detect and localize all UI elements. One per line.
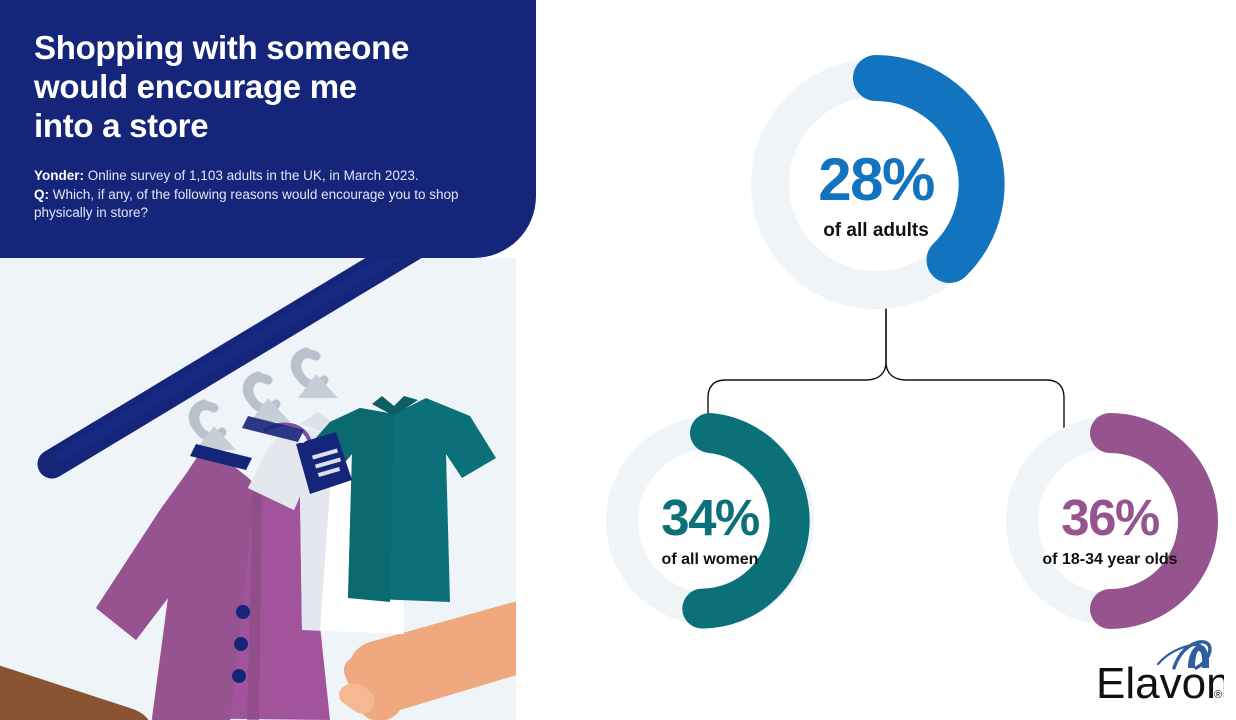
left-column: Shopping with someone would encourage me…	[0, 0, 536, 720]
source-label: Yonder:	[34, 168, 84, 183]
illustration-panel	[0, 258, 516, 720]
elavon-logo-svg: Elavon ®	[1096, 638, 1224, 704]
header-panel: Shopping with someone would encourage me…	[0, 0, 536, 258]
elavon-logo: Elavon ®	[1096, 638, 1224, 704]
question-text: Which, if any, of the following reasons …	[34, 187, 459, 221]
question-label: Q:	[34, 187, 49, 202]
right-column: 28% of all adults 34% of all women 36% o…	[536, 0, 1236, 720]
elavon-wordmark: Elavon	[1096, 659, 1224, 704]
donut-arc-all-women	[702, 433, 789, 609]
connector-lines	[536, 300, 1236, 430]
clothing-rail-illustration	[0, 258, 516, 720]
donut-arc-all-adults	[876, 78, 982, 260]
page-title: Shopping with someone would encourage me…	[34, 28, 498, 145]
donut-chart-all-women: 34% of all women	[605, 416, 815, 626]
donut-chart-all-adults: 28% of all adults	[750, 58, 1002, 310]
source-text: Online survey of 1,103 adults in the UK,…	[84, 168, 419, 183]
elavon-registered-mark: ®	[1214, 689, 1222, 701]
source-and-question: Yonder: Online survey of 1,103 adults in…	[34, 167, 474, 223]
donut-arc-18-34-year-olds	[1110, 433, 1198, 609]
donut-chart-18-34-year-olds: 36% of 18-34 year olds	[1005, 416, 1215, 626]
